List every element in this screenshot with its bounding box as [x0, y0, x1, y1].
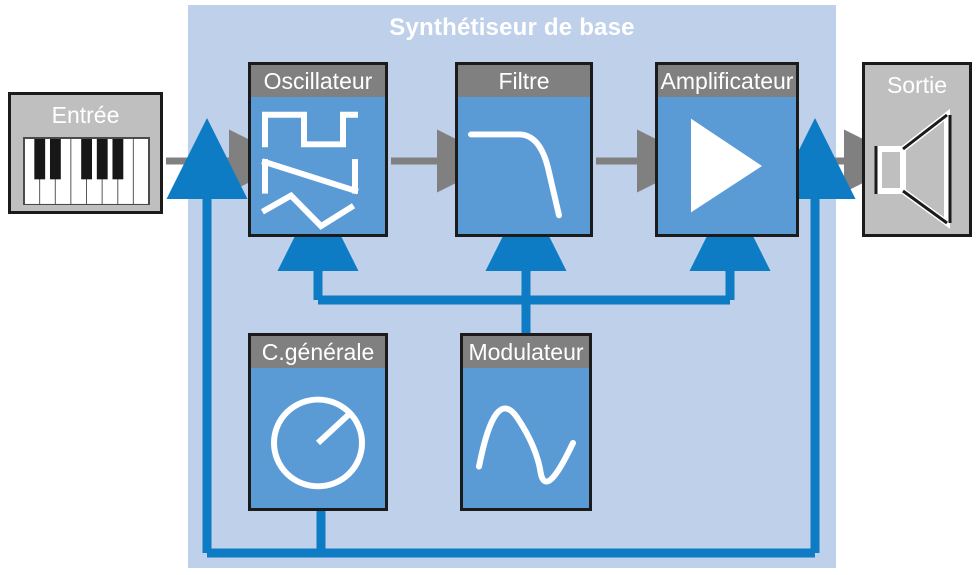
envelope-label: C.générale: [251, 336, 385, 368]
input-block[interactable]: Entrée: [8, 92, 163, 214]
amplifier-triangle-icon: [658, 97, 796, 234]
page-title: Synthétiseur de base: [188, 14, 836, 42]
input-label: Entrée: [11, 95, 160, 127]
lowpass-curve-icon: [458, 97, 590, 234]
piano-keyboard-icon: [23, 137, 150, 205]
module-filter[interactable]: Filtre: [455, 62, 593, 237]
modulator-label: Modulateur: [463, 336, 589, 368]
module-envelope[interactable]: C.générale: [248, 333, 388, 511]
module-oscillator[interactable]: Oscillateur: [248, 62, 388, 237]
synth-block-diagram: Synthétiseur de base: [0, 0, 979, 575]
waveforms-icon: [251, 97, 385, 234]
knob-dial-icon: [251, 368, 385, 508]
oscillator-label: Oscillateur: [251, 65, 385, 97]
output-label: Sortie: [865, 65, 969, 97]
sine-wave-icon: [463, 368, 589, 508]
amplifier-label: Amplificateur: [658, 65, 796, 97]
output-block[interactable]: Sortie: [862, 62, 972, 237]
filter-label: Filtre: [458, 65, 590, 97]
module-modulator[interactable]: Modulateur: [460, 333, 592, 511]
speaker-icon: [865, 105, 969, 229]
module-amplifier[interactable]: Amplificateur: [655, 62, 799, 237]
